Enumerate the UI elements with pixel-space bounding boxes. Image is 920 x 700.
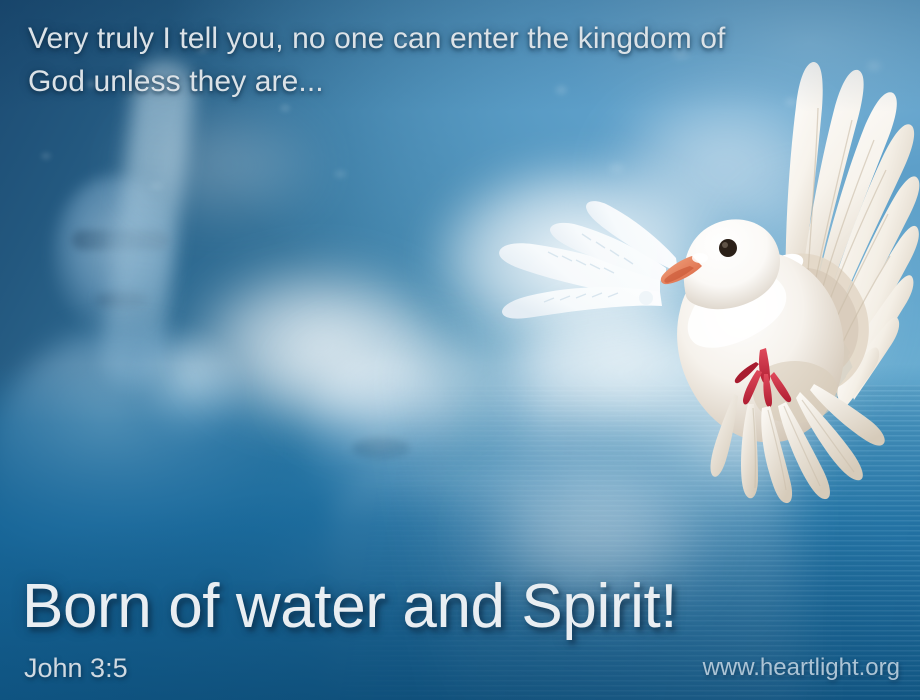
water-ripples: [0, 385, 920, 700]
verse-text: Very truly I tell you, no one can enter …: [28, 18, 768, 103]
scripture-reference: John 3:5: [24, 653, 128, 684]
headline-text: Born of water and Spirit!: [22, 576, 677, 638]
website-watermark: www.heartlight.org: [703, 654, 900, 682]
scripture-poster: Very truly I tell you, no one can enter …: [0, 0, 920, 700]
